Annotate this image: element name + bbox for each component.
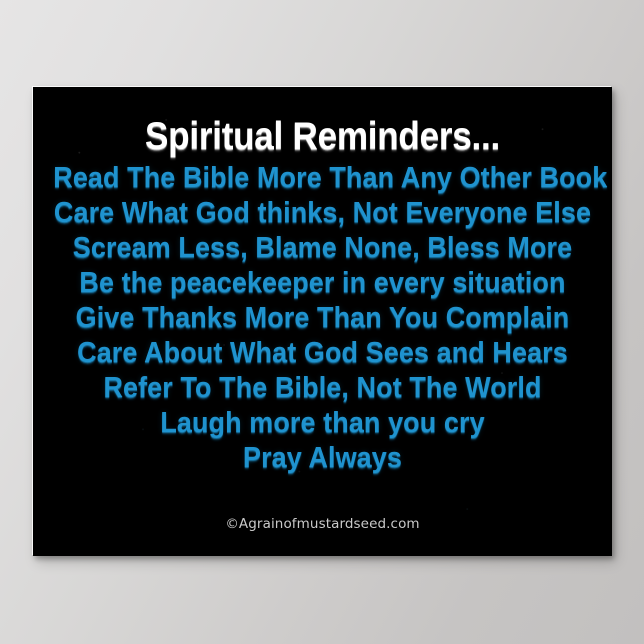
poster-content: Spiritual Reminders... Read The Bible Mo… [33,87,612,556]
reminder-list: Read The Bible More Than Any Other Book … [33,161,612,476]
poster-artwork[interactable]: Spiritual Reminders... Read The Bible Mo… [33,87,612,556]
copyright-credit: ©Agrainofmustardseed.com [33,516,612,532]
reminder-line: Give Thanks More Than You Complain [53,301,591,336]
reminder-line: Be the peacekeeper in every situation [53,266,591,301]
reminder-line: Refer To The Bible, Not The World [53,371,591,406]
reminder-line: Scream Less, Blame None, Bless More [53,231,591,266]
reminder-line: Care What God thinks, Not Everyone Else [53,196,591,231]
reminder-line: Read The Bible More Than Any Other Book [53,161,591,196]
reminder-line: Care About What God Sees and Hears [53,336,591,371]
reminder-line: Laugh more than you cry [53,406,591,441]
reminder-line: Pray Always [53,441,591,476]
product-backdrop: Spiritual Reminders... Read The Bible Mo… [0,0,644,644]
poster-title: Spiritual Reminders... [62,117,583,157]
